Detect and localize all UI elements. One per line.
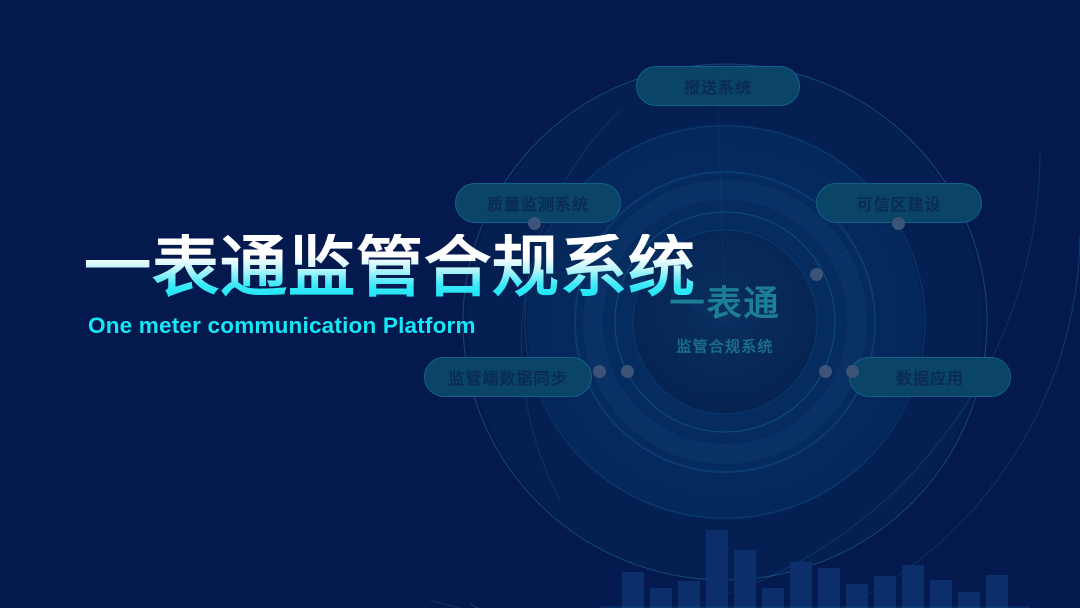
connector-dot-0	[528, 217, 541, 230]
node-pill-label: 报送系统	[684, 74, 752, 98]
page-title: 一表通监管合规系统	[84, 234, 696, 301]
title-block: 一表通监管合规系统 One meter communication Platfo…	[84, 234, 696, 339]
node-pill-tongbu[interactable]: 监管端数据同步	[424, 357, 592, 397]
node-pill-yingyong[interactable]: 数据应用	[849, 357, 1011, 397]
node-pill-label: 质量监测系统	[487, 191, 589, 215]
node-pill-label: 监管端数据同步	[448, 365, 567, 389]
connector-dot-1	[892, 217, 905, 230]
connector-dot-4	[621, 365, 634, 378]
page-subtitle: One meter communication Platform	[88, 313, 696, 339]
connector-dot-5	[819, 365, 832, 378]
node-pill-label: 数据应用	[896, 365, 964, 389]
connector-dot-3	[593, 365, 606, 378]
node-pill-label: 可信区建设	[856, 191, 941, 215]
node-pill-baosong[interactable]: 报送系统	[636, 66, 800, 106]
connector-dot-6	[846, 365, 859, 378]
connector-dot-2	[810, 268, 823, 281]
node-pill-zhiliang[interactable]: 质量监测系统	[455, 183, 621, 223]
slide-canvas: 一表通监管合规系统 One meter communication Platfo…	[0, 0, 1080, 608]
